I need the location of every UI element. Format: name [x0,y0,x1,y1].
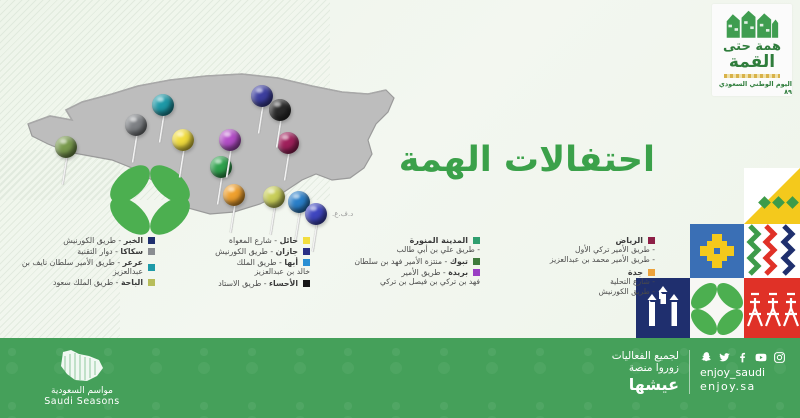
pin-head [305,203,327,225]
legend-color-swatch [473,258,480,265]
legend-entry-head: الخبر - طريق الكورنيش [15,236,155,245]
legend-entry: حائل - شارع المغواة [180,236,310,245]
legend-entry-head: عرعر - طريق الأمير سلطان نايف بن عبدالعز… [15,258,155,276]
legend-entry-head: سكاكا - دوار التقنية [15,247,155,256]
tile-zigzag [744,224,800,278]
legend-entry: جازان - طريق الكورنيش [180,247,310,256]
legend-entry-head: أبها - طريق الملك [180,258,310,267]
footer-cta: لجميع الفعاليات زوروا منصة عيشها [612,350,679,394]
legend-color-swatch [648,269,655,276]
legend-city-name: الرياض [616,236,644,245]
legend-entry-head: الأحساء - طريق الاستاد [180,279,310,288]
legend-color-swatch [303,248,310,255]
legend-entry-line: - شارع التحلية [490,277,655,287]
legend-column-4: الرياض- طريق الأمير تركي الأول- طريق الأ… [490,236,655,299]
city-legend: الخبر - طريق الكورنيشسكاكا - دوار التقني… [0,232,660,330]
footer-cta-line2: زوروا منصة [612,362,679,374]
pin-head [269,99,291,121]
saudi-map-icon [53,348,111,384]
saudi-seasons-logo: مواسم السعودية Saudi Seasons [22,348,142,407]
tile-red-pattern [744,278,800,338]
legend-entry-text: حائل - شارع المغواة [229,236,298,245]
footer-right-block: لجميع الفعاليات زوروا منصة عيشها enjoy_s… [612,350,786,394]
legend-column-1: الخبر - طريق الكورنيشسكاكا - دوار التقني… [15,236,155,289]
legend-entry: الباحة - طريق الملك سعود [15,278,155,287]
nd-logo-line2: القمة [729,54,775,71]
legend-entry-text: سكاكا - دوار التقنية [77,247,143,256]
legend-entry-text: الباحة - طريق الملك سعود [53,278,143,287]
legend-entry: الرياض- طريق الأمير تركي الأول- طريق الأ… [490,236,655,266]
footer-social-block: enjoy_saudi enjoy.sa [700,351,786,394]
map-pin-layer [20,28,400,238]
instagram-icon[interactable] [773,351,786,364]
legend-entry-head: الباحة - طريق الملك سعود [15,278,155,287]
legend-entry-head: بريدة - طريق الأمير [320,268,480,277]
legend-entry: جدة- شارع التحلية- طريق الكورنيش [490,268,655,298]
tile-green-flower [690,278,744,338]
legend-entry: المدينة المنورة- طريق علي بن أبي طالب [320,236,480,255]
legend-entry-text: جازان - طريق الكورنيش [215,247,298,256]
footer-divider [689,350,690,394]
legend-entry-text: تبوك - منتزة الأمير فهد بن سلطان [354,257,468,266]
legend-entry-text: أبها - طريق الملك [237,258,298,267]
pin-head [263,186,285,208]
legend-entry-text: الخبر - طريق الكورنيش [63,236,143,245]
pin-head [172,129,194,151]
national-day-logo: همة حتى القمة اليوم الوطني السعودي ٨٩ [712,4,792,96]
legend-entry: الأحساء - طريق الاستاد [180,279,310,288]
page-title: احتفالات الهمة [399,140,655,180]
nd-logo-line1: همة حتى [723,40,781,53]
legend-color-swatch [148,264,155,271]
legend-column-3: المدينة المنورة- طريق علي بن أبي طالبتبو… [320,236,480,290]
legend-entry-head: المدينة المنورة [320,236,480,245]
tile-blue-cross [690,224,744,278]
pin-head [152,94,174,116]
nd-logo-subtitle: اليوم الوطني السعودي ٨٩ [712,80,792,96]
pin-head [223,184,245,206]
legend-color-swatch [473,237,480,244]
legend-entry-text: بريدة - طريق الأمير [401,268,468,277]
legend-entry-line: - طريق علي بن أبي طالب [320,245,480,255]
footer-cta-line1: لجميع الفعاليات [612,350,679,362]
legend-entry-head: جازان - طريق الكورنيش [180,247,310,256]
legend-entry-head: الرياض [490,236,655,245]
social-handle[interactable]: enjoy_saudi [700,366,786,380]
legend-entry: بريدة - طريق الأميرفهد بن تركي بن فيصل ب… [320,268,480,287]
legend-entry: الخبر - طريق الكورنيش [15,236,155,245]
legend-entry-head: تبوك - منتزة الأمير فهد بن سلطان [320,257,480,266]
legend-entry-line: - طريق الأمير محمد بن عبدالعزيز [490,255,655,265]
legend-color-swatch [648,237,655,244]
pin-head [219,129,241,151]
legend-column-2: حائل - شارع المغواةجازان - طريق الكورنيش… [180,236,310,290]
pin-head [125,114,147,136]
legend-entry: أبها - طريق الملكخالد بن عبدالعزيز [180,258,310,277]
legend-city-name: جدة [628,268,643,277]
saudi-seasons-english: Saudi Seasons [44,396,120,407]
snapchat-icon[interactable] [700,351,713,364]
legend-color-swatch [148,279,155,286]
legend-entry-head: جدة [490,268,655,277]
youtube-icon[interactable] [754,351,768,364]
facebook-icon[interactable] [736,351,749,364]
pin-head [55,136,77,158]
legend-entry: تبوك - منتزة الأمير فهد بن سلطان [320,257,480,266]
saudi-seasons-arabic: مواسم السعودية [51,386,113,396]
legend-color-swatch [303,259,310,266]
social-icon-row [700,351,786,364]
footer-cta-line3: عيشها [612,375,679,394]
footer-bar: مواسم السعودية Saudi Seasons لجميع الفعا… [0,338,800,418]
legend-entry-line: - طريق الكورنيش [490,287,655,297]
legend-entry-head: حائل - شارع المغواة [180,236,310,245]
twitter-icon[interactable] [718,351,731,364]
legend-entry-line: خالد بن عبدالعزيز [180,267,310,277]
legend-entry-line: - طريق الأمير تركي الأول [490,245,655,255]
mountain-icon [721,9,783,39]
legend-city-name: المدينة المنورة [410,236,468,245]
legend-entry-line: فهد بن تركي بن فيصل بن تركي [320,277,480,287]
tile-yellow-diamonds [744,168,800,224]
nd-logo-rule [724,74,780,78]
legend-color-swatch [148,237,155,244]
legend-color-swatch [303,237,310,244]
legend-color-swatch [473,269,480,276]
legend-entry-text: الأحساء - طريق الاستاد [218,279,298,288]
legend-color-swatch [148,248,155,255]
legend-entry: عرعر - طريق الأمير سلطان نايف بن عبدالعز… [15,258,155,276]
pin-head [277,132,299,154]
legend-entry-text: عرعر - طريق الأمير سلطان نايف بن عبدالعز… [15,258,143,276]
legend-entry: سكاكا - دوار التقنية [15,247,155,256]
legend-color-swatch [303,280,310,287]
website-url[interactable]: enjoy.sa [700,380,786,394]
poster-canvas: .د.ف.ع احتفالات الهمة [0,0,800,418]
